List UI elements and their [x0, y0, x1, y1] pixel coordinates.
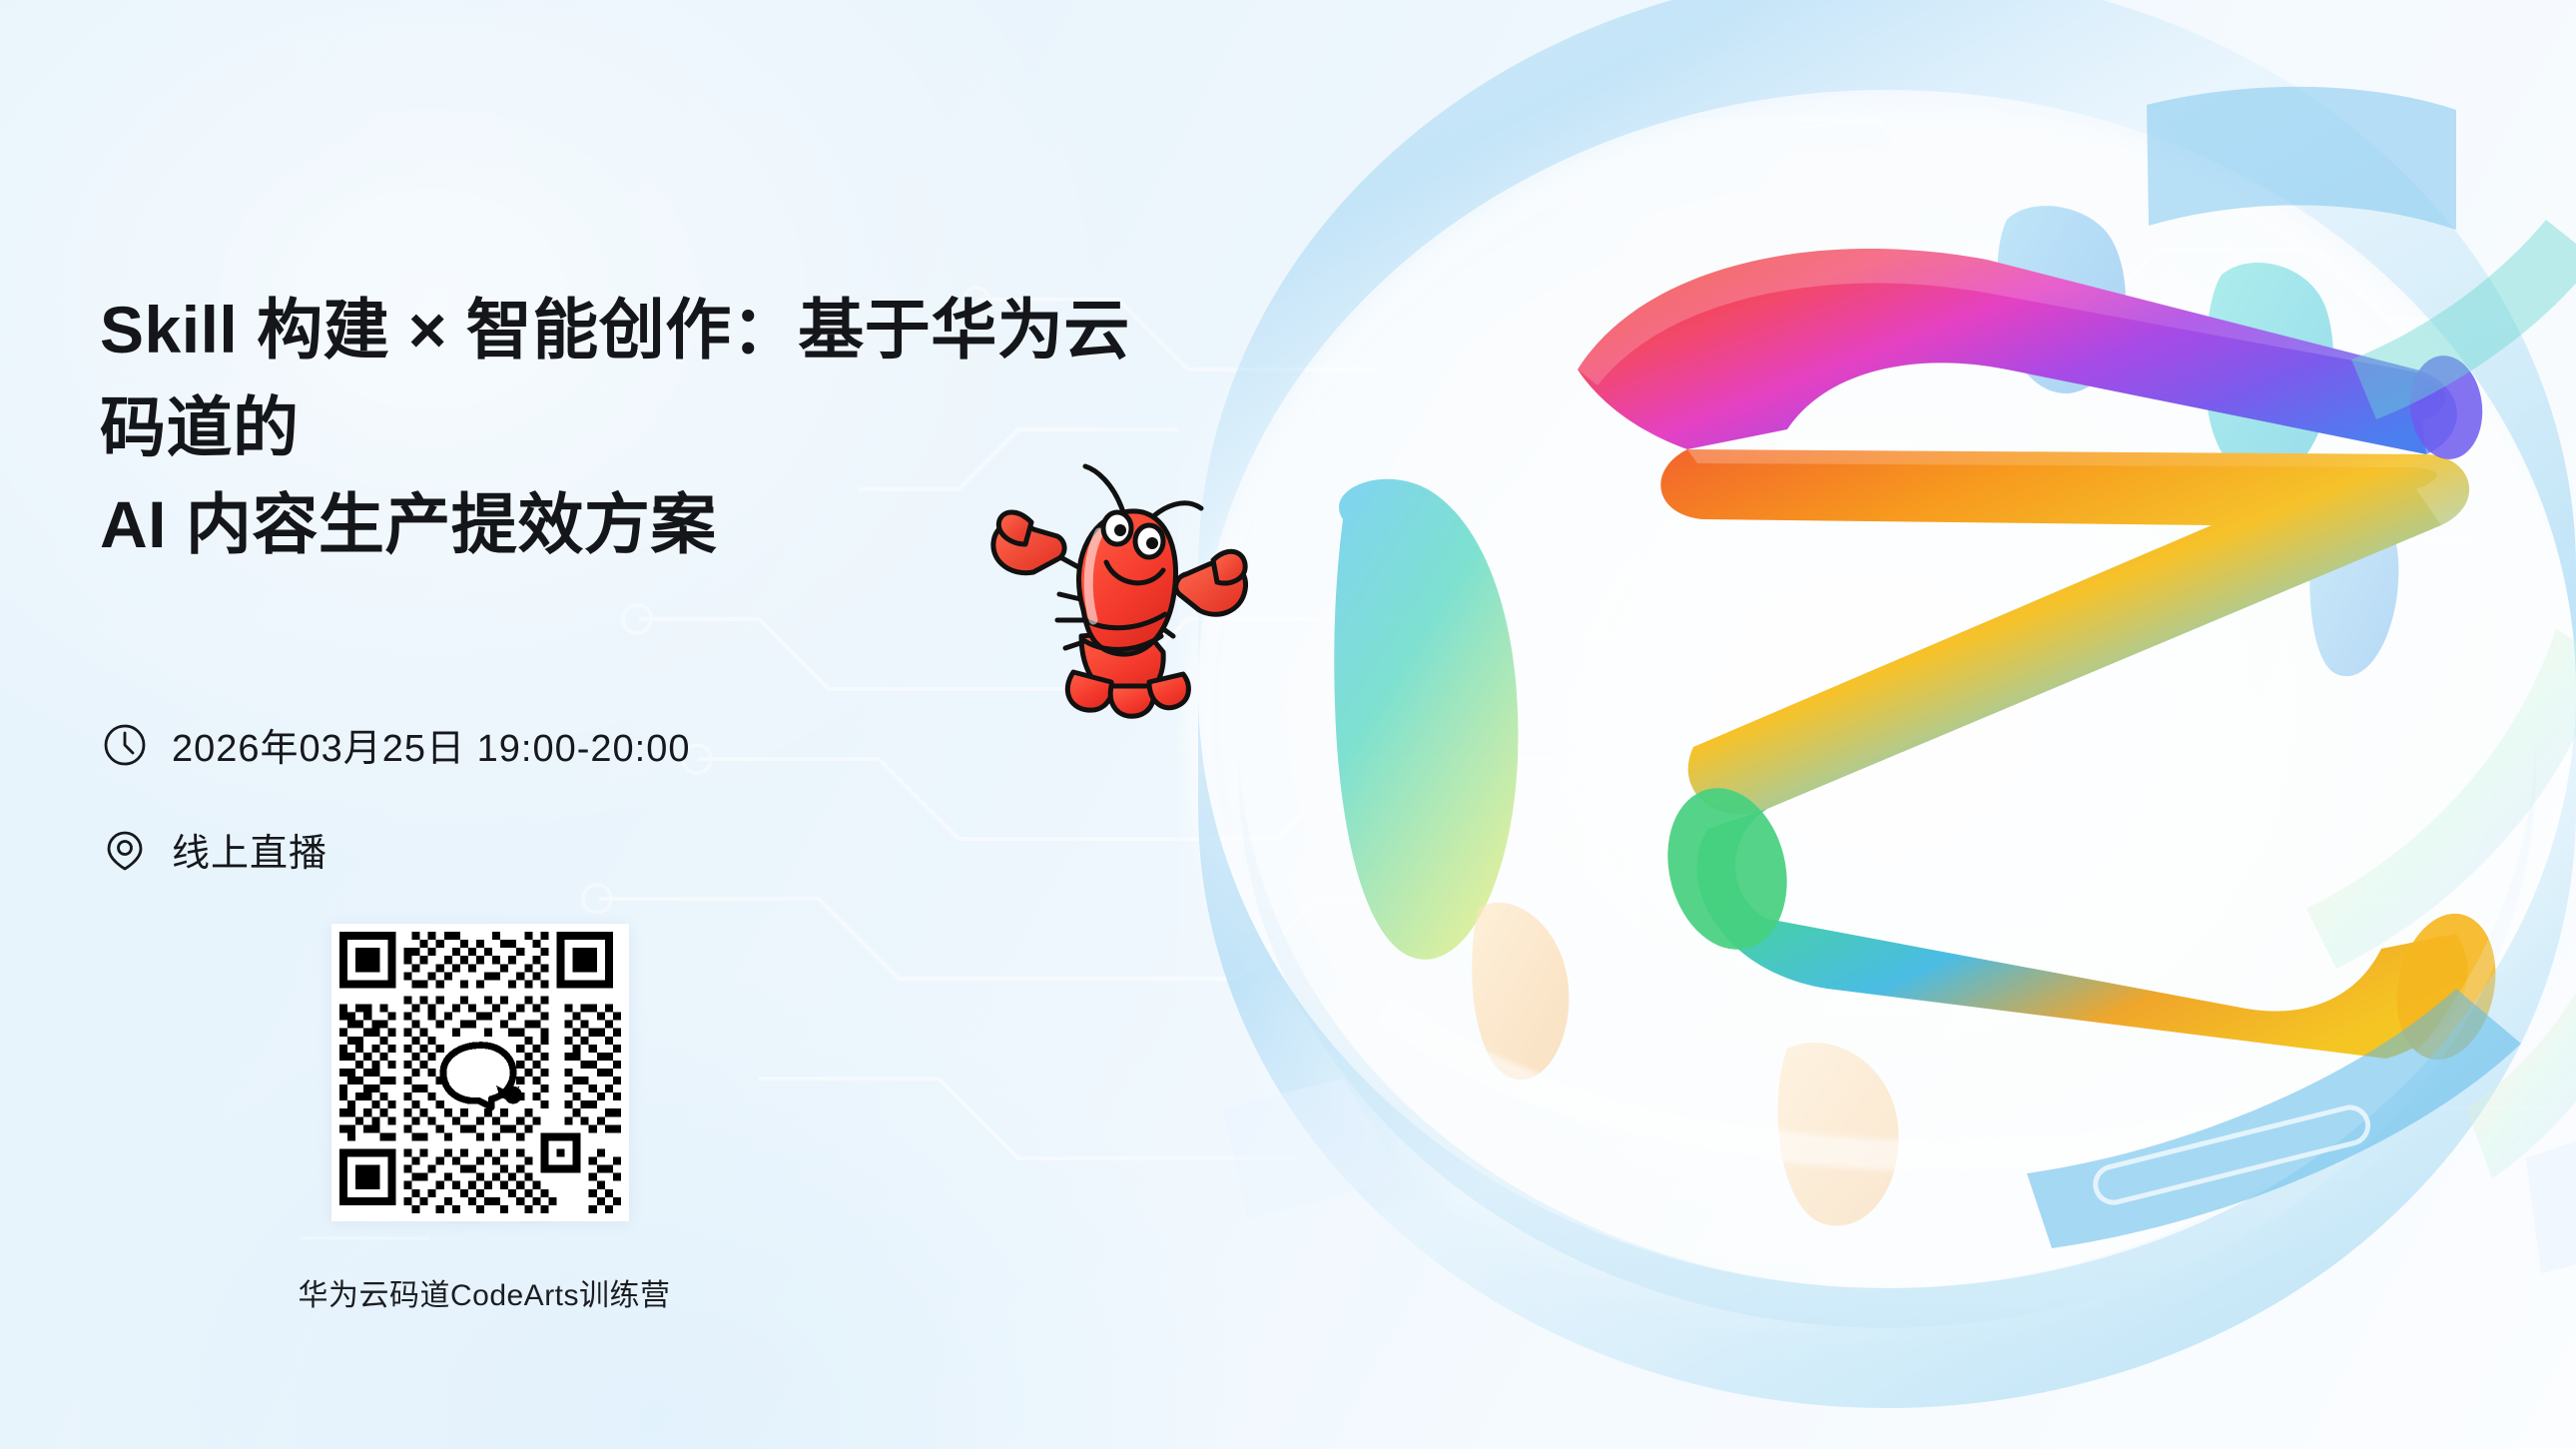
qr-code[interactable] — [331, 924, 629, 1221]
event-datetime: 2026年03月25日 19:00-20:00 — [172, 717, 690, 772]
clock-icon — [102, 722, 148, 768]
content-column: Skill 构建 × 智能创作：基于华为云码道的 AI 内容生产提效方案 202… — [100, 0, 1178, 1449]
event-location-row: 线上直播 — [102, 822, 327, 877]
qr-caption: 华为云码道CodeArts训练营 — [240, 1270, 729, 1314]
event-promo-banner: Skill 构建 × 智能创作：基于华为云码道的 AI 内容生产提效方案 202… — [0, 0, 2576, 1449]
glass-ribbon-artwork — [1128, 0, 2576, 1449]
qr-code-matrix — [331, 924, 629, 1221]
event-time-row: 2026年03月25日 19:00-20:00 — [102, 717, 690, 772]
map-pin-icon — [102, 827, 148, 873]
page-title: Skill 构建 × 智能创作：基于华为云码道的 AI 内容生产提效方案 — [100, 282, 1158, 574]
event-location: 线上直播 — [172, 822, 327, 877]
